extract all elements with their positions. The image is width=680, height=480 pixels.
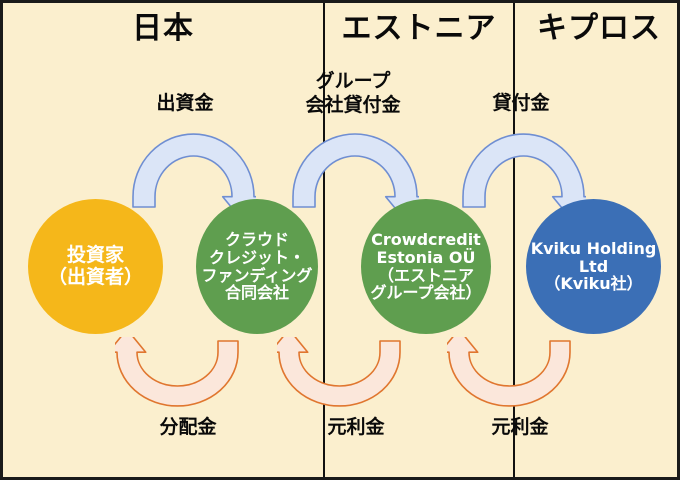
column-header-cyprus: キプロス <box>515 9 680 49</box>
arrow-shape-shusshikin <box>133 134 256 211</box>
flow-label-group-loan: グループ 会社貸付金 <box>288 69 418 117</box>
flow-label-ganrikin-2: 元利金 <box>455 415 585 439</box>
arrow-bunpaikin <box>115 337 240 409</box>
arrow-shape-ganrikin-2 <box>447 337 570 406</box>
node-investor: 投資家 （出資者） <box>28 199 163 334</box>
flow-diagram: 日本 エストニア キプロス 投資家 （出資者） クラウド クレジット・ ファンデ… <box>0 0 680 480</box>
arrow-ganrikin-2 <box>447 337 572 409</box>
flow-label-ganrikin-1: 元利金 <box>291 415 421 439</box>
arrow-shusshikin <box>131 131 256 211</box>
arrow-shape-loan <box>463 134 586 211</box>
arrow-ganrikin-1 <box>277 337 402 409</box>
column-header-japan: 日本 <box>3 9 323 49</box>
column-header-estonia: エストニア <box>325 9 513 49</box>
flow-label-shusshikin: 出資金 <box>125 91 245 115</box>
arrow-shape-bunpaikin <box>115 337 238 406</box>
arrow-loan <box>461 131 586 211</box>
node-crowdcredit-estonia: Crowdcredit Estonia OÜ （エストニア グループ会社） <box>361 199 491 334</box>
arrow-group-loan <box>291 131 419 211</box>
flow-label-bunpaikin: 分配金 <box>123 415 253 439</box>
arrow-shape-ganrikin-1 <box>277 337 400 406</box>
node-crowdcredit-funding: クラウド クレジット・ ファンディング 合同会社 <box>196 199 318 334</box>
node-kviku-holding: Kviku Holding Ltd （Kviku社） <box>526 199 661 334</box>
flow-label-loan: 貸付金 <box>461 91 581 115</box>
arrow-shape-group-loan <box>293 134 419 211</box>
